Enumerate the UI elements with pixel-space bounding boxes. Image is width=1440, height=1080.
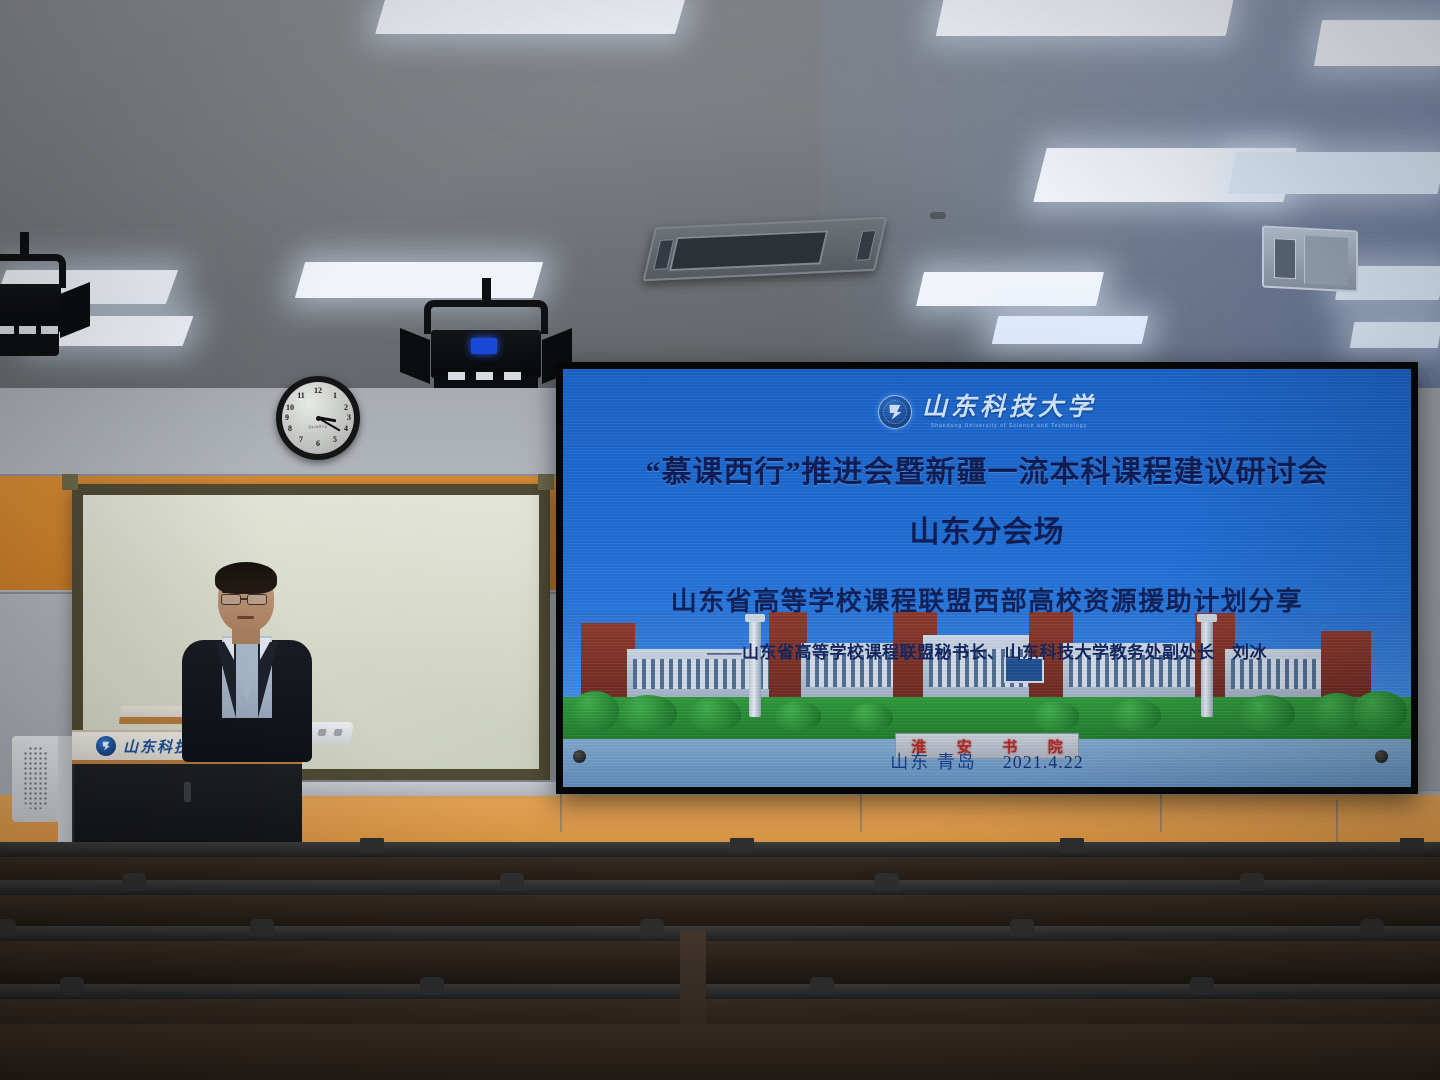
speaker-panel <box>1304 236 1348 286</box>
seat-divider <box>875 873 899 891</box>
lens-segment <box>19 326 36 334</box>
university-latin-subtitle: Shandong University of Science and Techn… <box>922 423 1096 429</box>
seat-divider <box>0 919 16 937</box>
seat-divider <box>1240 873 1264 891</box>
slide-footer-location: 山东 青岛 <box>890 752 977 772</box>
stage-light-left <box>0 232 66 364</box>
clock-numeral: 11 <box>265 392 337 400</box>
light-housing <box>431 330 540 378</box>
university-wordmark: 山东科技大学 <box>922 395 1096 420</box>
slide-title-line2: 山东分会场 <box>563 507 1411 551</box>
seat-divider <box>420 977 444 995</box>
clock-numeral: 7 <box>265 436 337 444</box>
photo-tree <box>689 697 741 731</box>
seat-divider <box>500 873 524 891</box>
wall-seam <box>0 474 560 476</box>
audience-seating <box>0 838 1440 1080</box>
ac-side-vent <box>855 230 876 261</box>
presenter-eyebrow <box>248 590 266 593</box>
whiteboard-corner <box>538 474 554 490</box>
seat-divider <box>122 873 146 891</box>
seat-divider <box>1360 919 1384 937</box>
ac-vent <box>669 230 828 271</box>
light-lens <box>0 330 59 356</box>
seat-back-rail <box>0 984 1440 999</box>
slide-title-line1: “慕课西行”推进会暨新疆一流本科课程建议研讨会 <box>563 447 1411 491</box>
clock-face: 12 1 2 3 4 5 6 7 8 9 10 11 QUARTZ <box>282 382 354 454</box>
photo-tree <box>571 691 619 731</box>
photo-tree <box>619 695 677 731</box>
seat-divider <box>60 977 84 995</box>
seat-divider <box>1400 838 1424 853</box>
logo-text-group: 山东科技大学 Shandong University of Science an… <box>922 395 1096 429</box>
led-display-screen[interactable]: 淮 安 书 院 山东科技大学 Shandong University of Sc… <box>563 369 1411 787</box>
lens-segment <box>448 372 465 380</box>
seat-divider <box>640 919 664 937</box>
podium-body <box>72 764 302 846</box>
university-logo: 山东科技大学 Shandong University of Science an… <box>563 395 1411 429</box>
presenter-collar <box>260 638 272 660</box>
wall-clock: 12 1 2 3 4 5 6 7 8 9 10 11 QUARTZ <box>276 376 360 460</box>
slide-footer-date: 2021.4.22 <box>1003 752 1084 772</box>
whiteboard-corner <box>62 474 78 490</box>
podium-speaker-left <box>12 736 60 822</box>
lens-segment <box>504 372 521 380</box>
lecture-hall-scene: 8 12 1 2 3 4 5 6 7 8 9 10 11 QUARTZ <box>0 0 1440 1080</box>
photo-tree <box>1111 699 1161 731</box>
clock-numeral: 9 <box>251 414 323 422</box>
lens-segment <box>0 326 14 334</box>
control-button[interactable] <box>317 729 326 736</box>
seat-divider <box>1190 977 1214 995</box>
seat-divider <box>360 838 384 853</box>
clock-center-pin <box>316 416 321 421</box>
speaker-grille-icon <box>23 746 49 810</box>
slide-attribution: ——山东省高等学校课程联盟秘书长、山东科技大学教务处副处长 刘冰 <box>563 638 1411 663</box>
presenter-eyebrow <box>222 590 240 593</box>
slide-footer: 山东 青岛 2021.4.22 <box>563 748 1411 774</box>
wall-seam <box>1160 790 1162 832</box>
lens-segment <box>476 372 493 380</box>
wall-seam <box>860 790 862 832</box>
seat-divider <box>1010 919 1034 937</box>
light-mount-pole <box>482 278 491 302</box>
speaker-vent <box>1274 238 1296 279</box>
light-housing <box>0 284 61 332</box>
seat-back-rail <box>0 926 1440 941</box>
eyeglasses-icon <box>247 594 267 605</box>
led-display-bezel: 淮 安 书 院 山东科技大学 Shandong University of Sc… <box>556 362 1418 794</box>
seat-back-rail <box>0 880 1440 895</box>
ceiling-light-panel <box>375 0 685 34</box>
seat-divider <box>250 919 274 937</box>
stage-light-right <box>424 278 548 398</box>
photo-tree <box>849 703 893 731</box>
slide-text-block: 山东科技大学 Shandong University of Science an… <box>563 369 1411 663</box>
seat-divider <box>730 838 754 853</box>
lens-segment <box>41 326 58 334</box>
ceiling-blue-glow <box>820 0 1440 392</box>
presenter <box>176 566 318 762</box>
university-crest-icon <box>878 395 912 429</box>
seat-row[interactable] <box>0 932 1440 986</box>
ceiling-speaker <box>1262 225 1358 292</box>
smoke-detector <box>930 212 946 219</box>
slide-subtitle: 山东省高等学校课程联盟西部高校资源援助计划分享 <box>563 581 1411 618</box>
photo-tree <box>775 701 821 731</box>
seat-divider <box>1060 838 1084 853</box>
eyeglasses-icon <box>221 594 241 605</box>
hall-floor <box>0 1024 1440 1080</box>
light-yoke <box>424 300 548 334</box>
presenter-mouth <box>237 616 254 619</box>
ceiling-air-conditioner <box>643 217 888 281</box>
power-indicator-icon <box>471 338 497 354</box>
light-yoke <box>0 254 66 288</box>
seat-divider <box>810 977 834 995</box>
clock-brand-text: QUARTZ <box>282 424 354 429</box>
podium-door-handle[interactable] <box>184 782 191 802</box>
photo-tree <box>1239 695 1295 731</box>
photo-tree <box>1353 691 1407 731</box>
university-crest-icon <box>96 736 116 756</box>
ceiling <box>0 0 1440 392</box>
control-button[interactable] <box>333 729 342 736</box>
seat-back-rail <box>0 842 1440 857</box>
photo-tree <box>1033 701 1079 731</box>
clock-numeral: 10 <box>254 404 326 412</box>
eyeglasses-bridge <box>241 598 247 600</box>
